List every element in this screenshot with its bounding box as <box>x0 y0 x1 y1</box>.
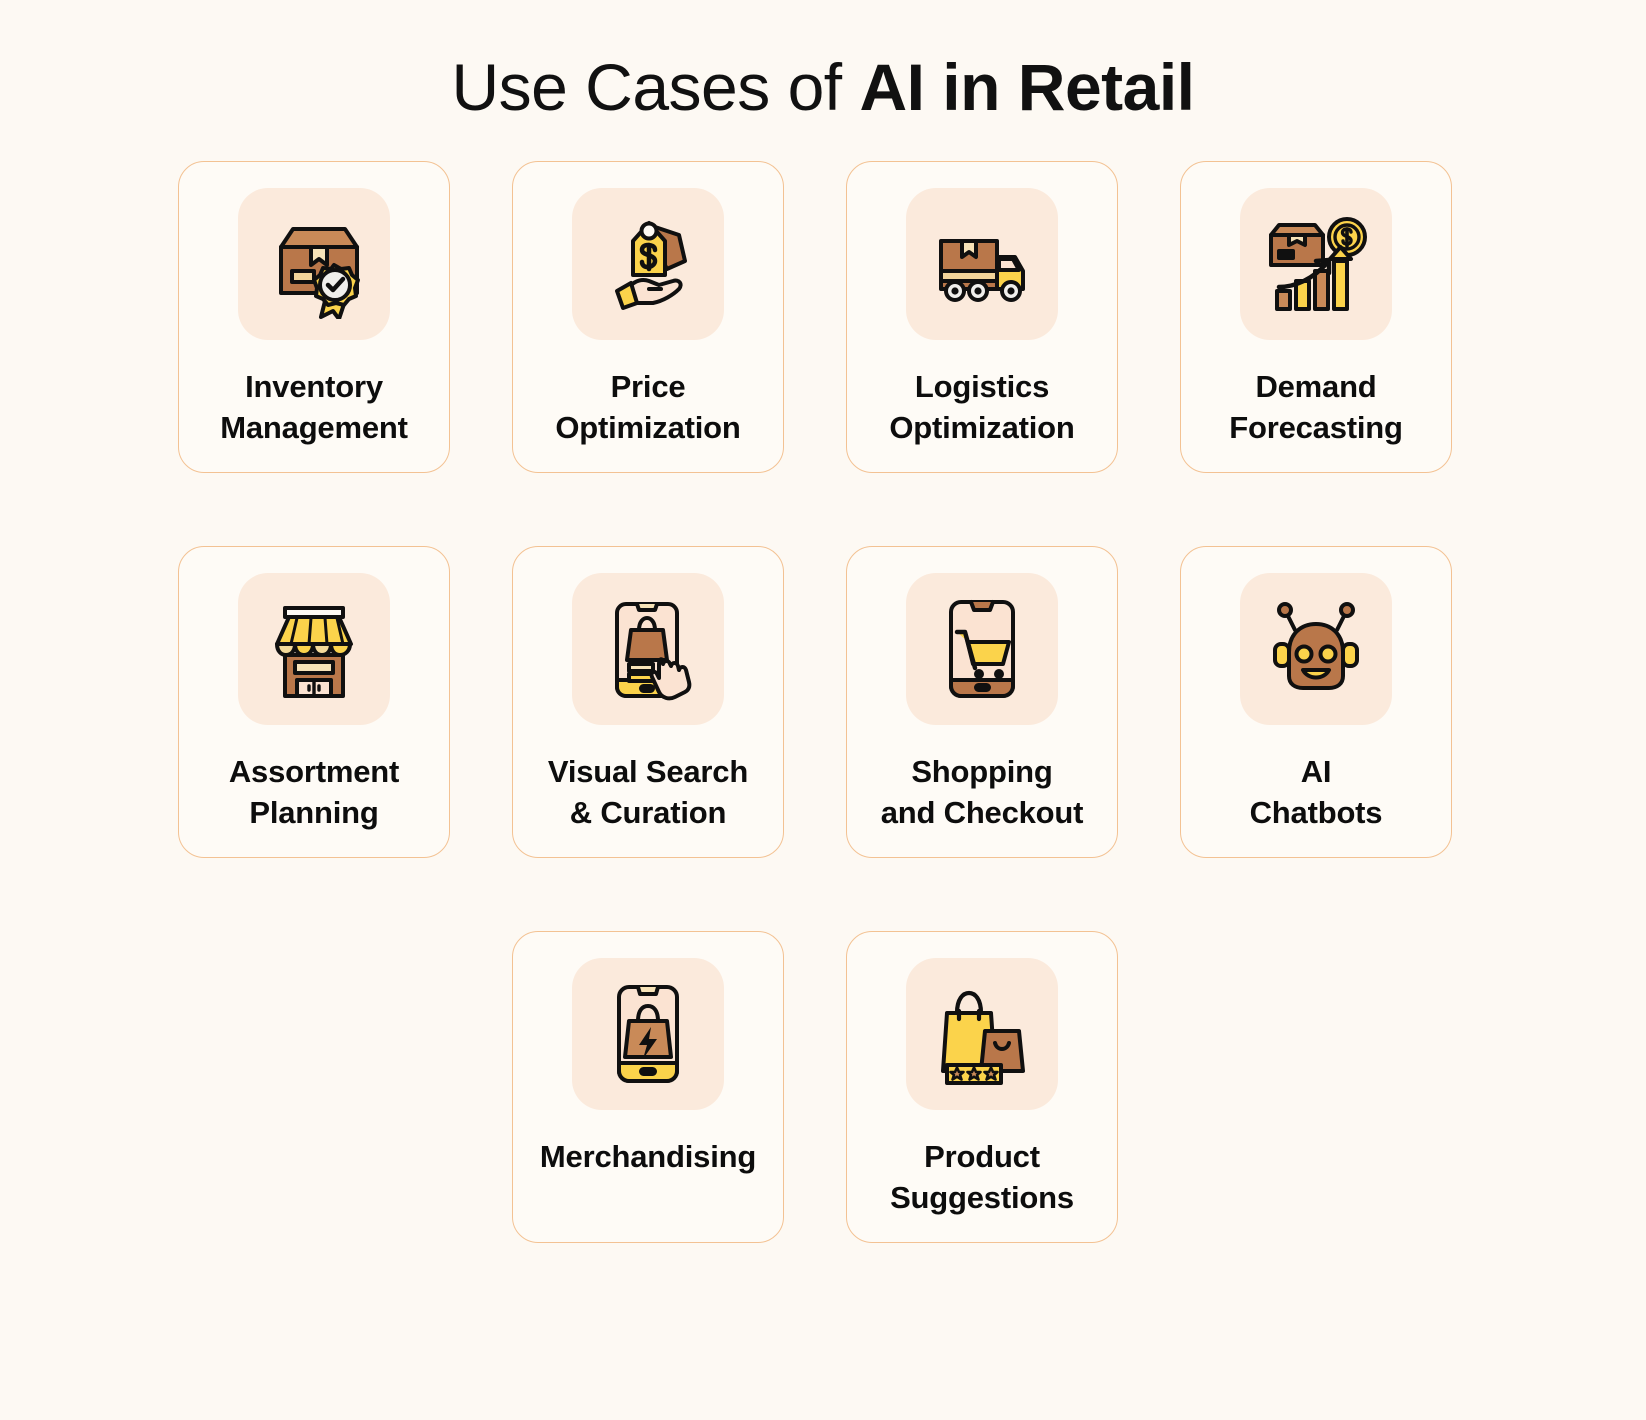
hand-price-tag-icon <box>593 209 703 319</box>
use-case-grid: Inventory Management <box>178 161 1468 1243</box>
card-label: Assortment Planning <box>221 751 407 833</box>
icon-tile <box>906 958 1058 1110</box>
award-ribbon <box>314 265 358 319</box>
storefront-icon <box>259 594 369 704</box>
card-label: Product Suggestions <box>882 1136 1082 1218</box>
grid-row-1: Inventory Management <box>178 161 1468 473</box>
card-label: Inventory Management <box>212 366 415 448</box>
icon-tile <box>906 573 1058 725</box>
card-inventory-management[interactable]: Inventory Management <box>178 161 450 473</box>
infographic-page: Use Cases of AI in Retail <box>0 0 1646 1420</box>
card-product-suggestions[interactable]: Product Suggestions <box>846 931 1118 1243</box>
card-demand-forecasting[interactable]: Demand Forecasting <box>1180 161 1452 473</box>
card-label: Logistics Optimization <box>881 366 1082 448</box>
card-label: Price Optimization <box>547 366 748 448</box>
icon-tile <box>572 958 724 1110</box>
card-label: Visual Search & Curation <box>540 751 756 833</box>
card-assortment-planning[interactable]: Assortment Planning <box>178 546 450 858</box>
page-title-light: Use Cases of <box>451 50 859 124</box>
growth-chart-coin-box-icon <box>1261 209 1371 319</box>
shopping-bags-stars-icon <box>927 979 1037 1089</box>
card-label: Shopping and Checkout <box>873 751 1092 833</box>
icon-tile <box>238 188 390 340</box>
card-label: AI Chatbots <box>1242 751 1391 833</box>
phone-bag-cursor-icon <box>593 594 703 704</box>
card-merchandising[interactable]: Merchandising <box>512 931 784 1243</box>
page-title-area: Use Cases of AI in Retail <box>0 0 1646 123</box>
icon-tile <box>1240 188 1392 340</box>
phone-shopping-cart-icon <box>927 594 1037 704</box>
icon-tile <box>238 573 390 725</box>
grid-row-3: Merchandising <box>178 931 1468 1243</box>
page-title-bold: AI in Retail <box>859 50 1194 124</box>
card-shopping-and-checkout[interactable]: Shopping and Checkout <box>846 546 1118 858</box>
card-label: Merchandising <box>532 1136 764 1177</box>
icon-tile <box>572 573 724 725</box>
card-price-optimization[interactable]: Price Optimization <box>512 161 784 473</box>
icon-tile <box>1240 573 1392 725</box>
icon-tile <box>572 188 724 340</box>
phone-bag-bolt-icon <box>593 979 703 1089</box>
package-box-award-icon <box>259 209 369 319</box>
page-title: Use Cases of AI in Retail <box>0 52 1646 123</box>
robot-head-icon <box>1261 594 1371 704</box>
card-logistics-optimization[interactable]: Logistics Optimization <box>846 161 1118 473</box>
card-visual-search-curation[interactable]: Visual Search & Curation <box>512 546 784 858</box>
grid-row-2: Assortment Planning <box>178 546 1468 858</box>
card-label: Demand Forecasting <box>1221 366 1411 448</box>
icon-tile <box>906 188 1058 340</box>
card-ai-chatbots[interactable]: AI Chatbots <box>1180 546 1452 858</box>
delivery-truck-icon <box>927 209 1037 319</box>
